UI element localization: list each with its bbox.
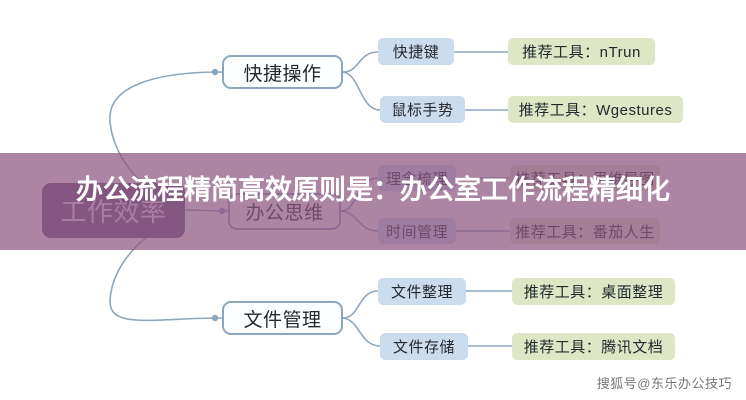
mindmap-leaf-node-3-2[interactable]: 推荐工具：腾讯文档	[512, 333, 675, 360]
mindmap-sub-node-1-1[interactable]: 快捷键	[378, 38, 454, 65]
mindmap-sub-node-3-1[interactable]: 文件整理	[378, 278, 466, 305]
mindmap-sub-node-1-2[interactable]: 鼠标手势	[380, 96, 465, 123]
watermark-text: 搜狐号@东乐办公技巧	[597, 373, 732, 392]
mindmap-branch-label-1: 快捷操作	[243, 59, 321, 86]
mindmap-sub-label-3-2: 文件存储	[393, 336, 455, 357]
mindmap-sub-label-1-2: 鼠标手势	[391, 99, 453, 120]
mindmap-sub-label-3-1: 文件整理	[391, 281, 453, 302]
mindmap-leaf-label-1-1: 推荐工具：nTrun	[522, 41, 641, 62]
mindmap-sub-node-3-2[interactable]: 文件存储	[380, 333, 468, 360]
overlay-title-band: 办公流程精简高效原则是：办公室工作流程精细化	[0, 153, 746, 250]
mindmap-screenshot: 工作效率 快捷操作 快捷键 推荐工具：nTrun 鼠标手势 推荐工具：Wgest…	[0, 0, 746, 400]
mindmap-branch-node-1[interactable]: 快捷操作	[222, 55, 343, 89]
overlay-title-text: 办公流程精简高效原则是：办公室工作流程精细化	[76, 177, 670, 204]
mindmap-leaf-label-3-1: 推荐工具：桌面整理	[524, 281, 664, 302]
mindmap-branch-node-3[interactable]: 文件管理	[222, 301, 343, 335]
mindmap-leaf-node-1-2[interactable]: 推荐工具：Wgestures	[508, 96, 683, 123]
mindmap-leaf-label-1-2: 推荐工具：Wgestures	[519, 99, 673, 120]
mindmap-leaf-label-3-2: 推荐工具：腾讯文档	[524, 336, 664, 357]
mindmap-leaf-node-1-1[interactable]: 推荐工具：nTrun	[508, 38, 655, 65]
mindmap-sub-label-1-1: 快捷键	[393, 41, 440, 62]
mindmap-leaf-node-3-1[interactable]: 推荐工具：桌面整理	[512, 278, 675, 305]
mindmap-branch-label-3: 文件管理	[243, 305, 321, 332]
